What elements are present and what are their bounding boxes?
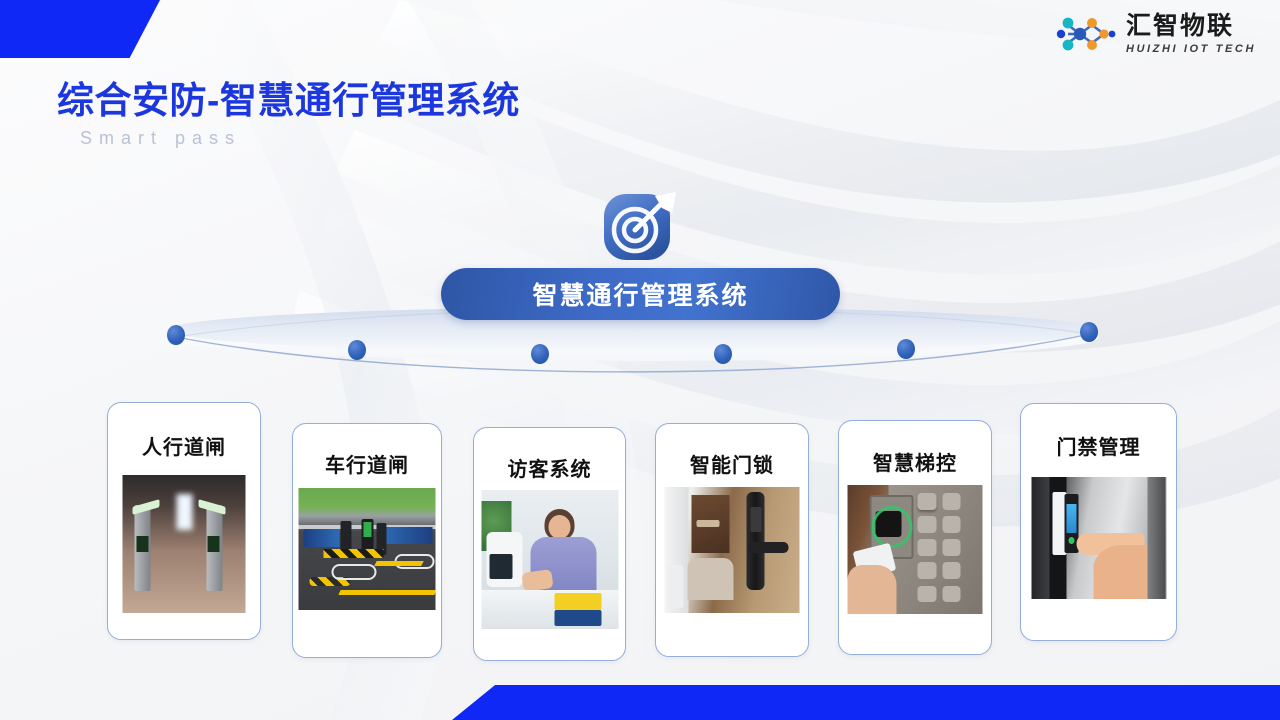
pedestrian-speed-gate-photo (123, 475, 246, 613)
card-smart-elevator-control[interactable]: 智慧梯控 (838, 420, 992, 655)
orbit-node-dot (714, 344, 732, 364)
elevator-card-reader-photo (848, 485, 983, 614)
card-visitor-system-label: 访客系统 (474, 453, 625, 482)
card-vehicle-barrier-label: 车行道闸 (293, 449, 441, 478)
orbit-node-dot (897, 339, 915, 359)
card-smart-door-lock[interactable]: 智能门锁 (655, 423, 809, 657)
slide-root: 综合安防-智慧通行管理系统 Smart pass 汇智物联 H (0, 0, 1280, 720)
smart-door-lock-handle-photo (665, 487, 800, 613)
orbit-node-dot (348, 340, 366, 360)
card-vehicle-barrier[interactable]: 车行道闸 (292, 423, 442, 658)
system-title-badge-label: 智慧通行管理系统 (532, 276, 748, 312)
fingerprint-access-control-terminal-photo (1031, 477, 1166, 599)
orbit-node-dot (1080, 322, 1098, 342)
reception-desk-visitor-registration-photo (481, 490, 618, 629)
orbit-node-dot (531, 344, 549, 364)
card-pedestrian-gate[interactable]: 人行道闸 (107, 402, 261, 640)
card-access-control-label: 门禁管理 (1021, 431, 1176, 460)
orbit-node-dot (167, 325, 185, 345)
card-pedestrian-gate-label: 人行道闸 (108, 431, 260, 460)
card-smart-elevator-control-label: 智慧梯控 (839, 447, 991, 476)
card-smart-door-lock-label: 智能门锁 (656, 449, 808, 478)
card-access-control[interactable]: 门禁管理 (1020, 403, 1177, 641)
card-visitor-system[interactable]: 访客系统 (473, 427, 626, 661)
parking-lot-vehicle-barrier-photo (299, 488, 436, 610)
system-title-badge[interactable]: 智慧通行管理系统 (441, 268, 840, 320)
